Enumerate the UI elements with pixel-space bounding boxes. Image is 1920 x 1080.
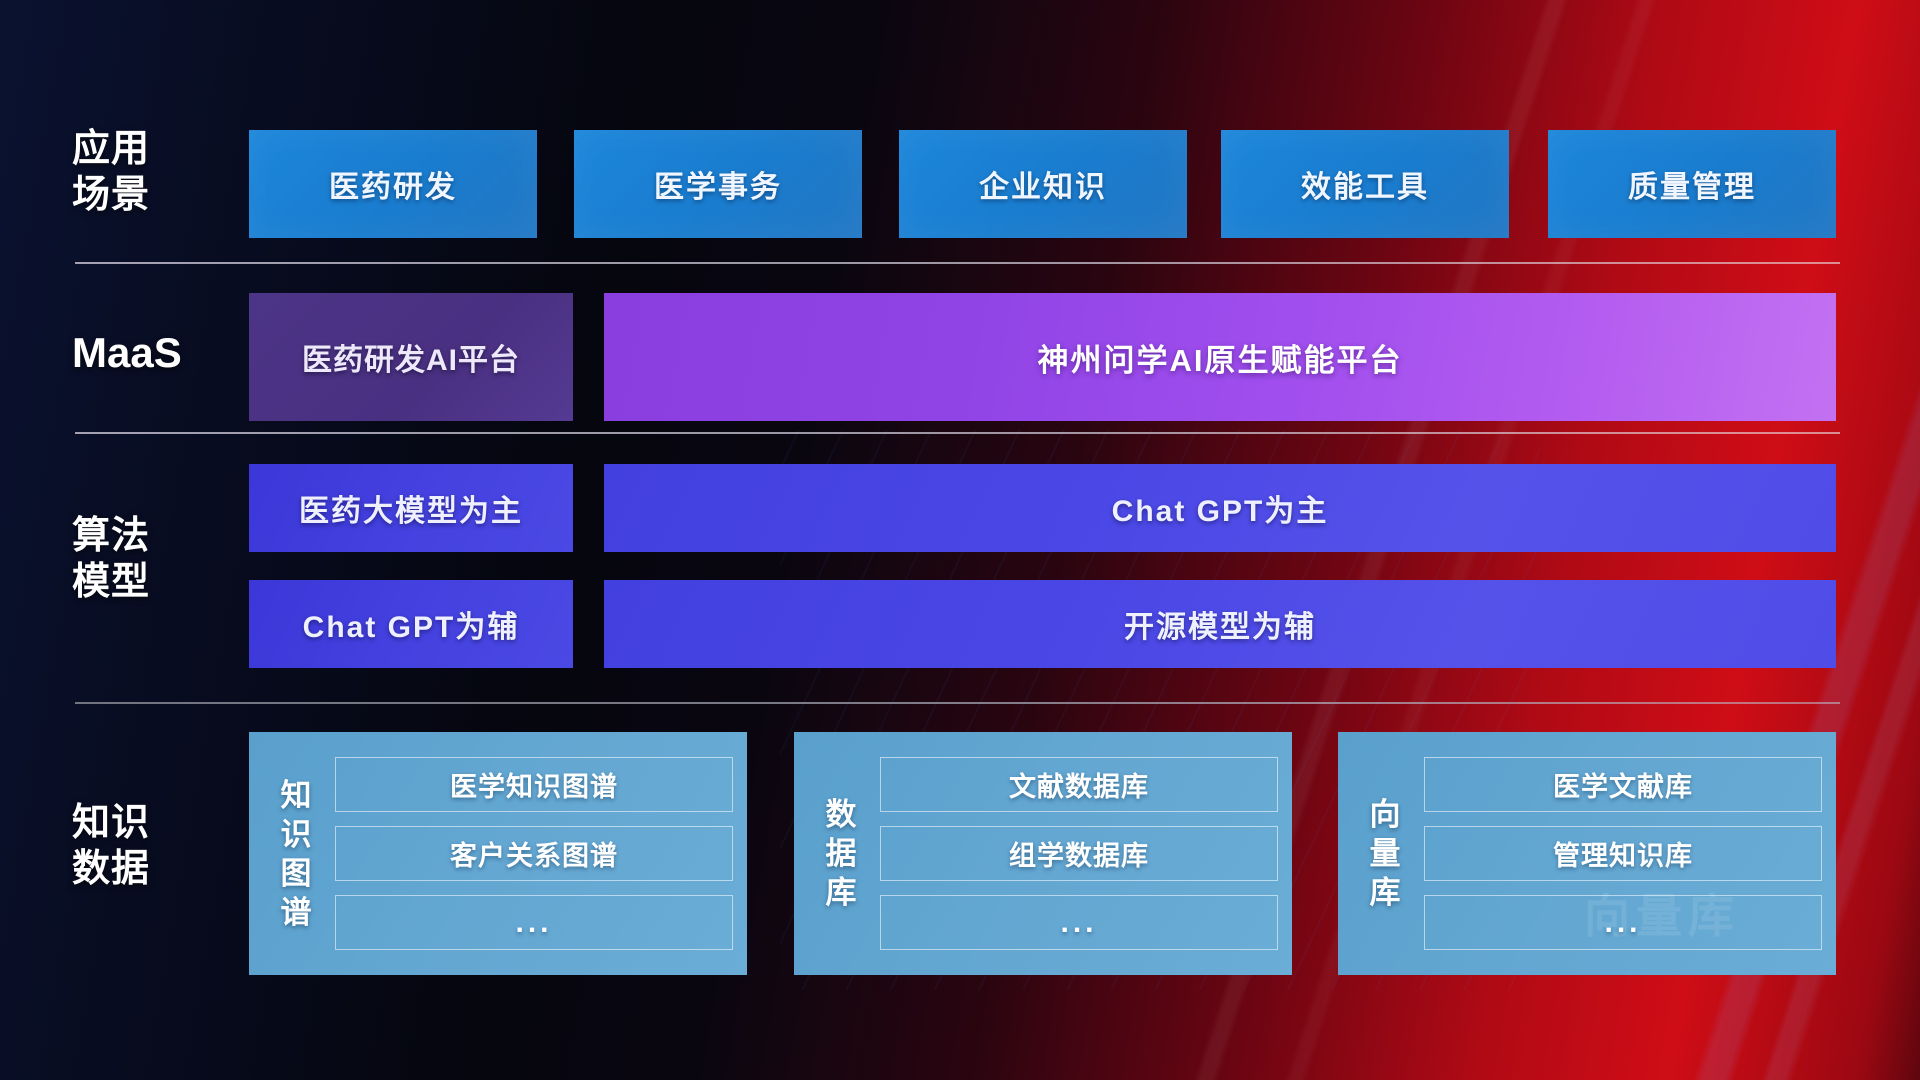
algo-box-pharma-large-model-primary[interactable]: 医药大模型为主 — [249, 464, 573, 552]
knowledge-item-more-vector-store[interactable]: ... — [1424, 895, 1822, 950]
algo-box-chatgpt-primary[interactable]: Chat GPT为主 — [604, 464, 1836, 552]
knowledge-item-literature-database[interactable]: 文献数据库 — [880, 757, 1278, 812]
knowledge-item-omics-database[interactable]: 组学数据库 — [880, 826, 1278, 881]
knowledge-item-more-knowledge-graph[interactable]: ... — [335, 895, 733, 950]
maas-row-label: MaaS — [72, 330, 232, 376]
maas-box-drug-rd-ai-platform[interactable]: 医药研发AI平台 — [249, 293, 573, 421]
diagram-canvas: 应用 场景 医药研发 医学事务 企业知识 效能工具 质量管理 MaaS 医药研发… — [0, 0, 1920, 1080]
app-box-drug-rd[interactable]: 医药研发 — [249, 130, 537, 238]
knowledge-item-medical-knowledge-graph[interactable]: 医学知识图谱 — [335, 757, 733, 812]
app-box-quality-management[interactable]: 质量管理 — [1548, 130, 1836, 238]
knowledge-item-medical-literature-store[interactable]: 医学文献库 — [1424, 757, 1822, 812]
knowledge-row-label-line2: 数据 — [72, 846, 232, 892]
algo-box-opensource-model-secondary[interactable]: 开源模型为辅 — [604, 580, 1836, 668]
application-row-label-line2: 场景 — [72, 172, 232, 218]
algorithm-row-label: 算法 模型 — [72, 513, 232, 605]
divider-maas-algorithm — [75, 432, 1840, 434]
application-row-label-line1: 应用 — [72, 126, 232, 172]
knowledge-row-label-line1: 知识 — [72, 800, 232, 846]
knowledge-group-items-vector-store: 医学文献库 管理知识库 ... — [1414, 744, 1822, 963]
algorithm-row-label-line2: 模型 — [72, 559, 232, 605]
knowledge-group-knowledge-graph[interactable]: 知识图谱 医学知识图谱 客户关系图谱 ... — [249, 732, 747, 975]
knowledge-group-database[interactable]: 数据库 文献数据库 组学数据库 ... — [794, 732, 1292, 975]
divider-algorithm-knowledge — [75, 702, 1840, 704]
knowledge-item-management-knowledge-store[interactable]: 管理知识库 — [1424, 826, 1822, 881]
knowledge-group-label-knowledge-graph: 知识图谱 — [267, 776, 325, 932]
knowledge-group-vector-store[interactable]: 向量库 医学文献库 管理知识库 ... — [1338, 732, 1836, 975]
application-row-label: 应用 场景 — [72, 126, 232, 218]
knowledge-group-label-vector-store: 向量库 — [1356, 795, 1414, 912]
maas-box-shenzhou-wenxue-platform[interactable]: 神州问学AI原生赋能平台 — [604, 293, 1836, 421]
knowledge-group-label-database: 数据库 — [812, 795, 870, 912]
divider-application-maas — [75, 262, 1840, 264]
knowledge-group-items-database: 文献数据库 组学数据库 ... — [870, 744, 1278, 963]
app-box-efficiency-tools[interactable]: 效能工具 — [1221, 130, 1509, 238]
algo-box-chatgpt-secondary[interactable]: Chat GPT为辅 — [249, 580, 573, 668]
app-box-medical-affairs[interactable]: 医学事务 — [574, 130, 862, 238]
knowledge-group-items-knowledge-graph: 医学知识图谱 客户关系图谱 ... — [325, 744, 733, 963]
knowledge-item-customer-relation-graph[interactable]: 客户关系图谱 — [335, 826, 733, 881]
knowledge-row-label: 知识 数据 — [72, 800, 232, 892]
knowledge-item-more-database[interactable]: ... — [880, 895, 1278, 950]
algorithm-row-label-line1: 算法 — [72, 513, 232, 559]
app-box-enterprise-knowledge[interactable]: 企业知识 — [899, 130, 1187, 238]
